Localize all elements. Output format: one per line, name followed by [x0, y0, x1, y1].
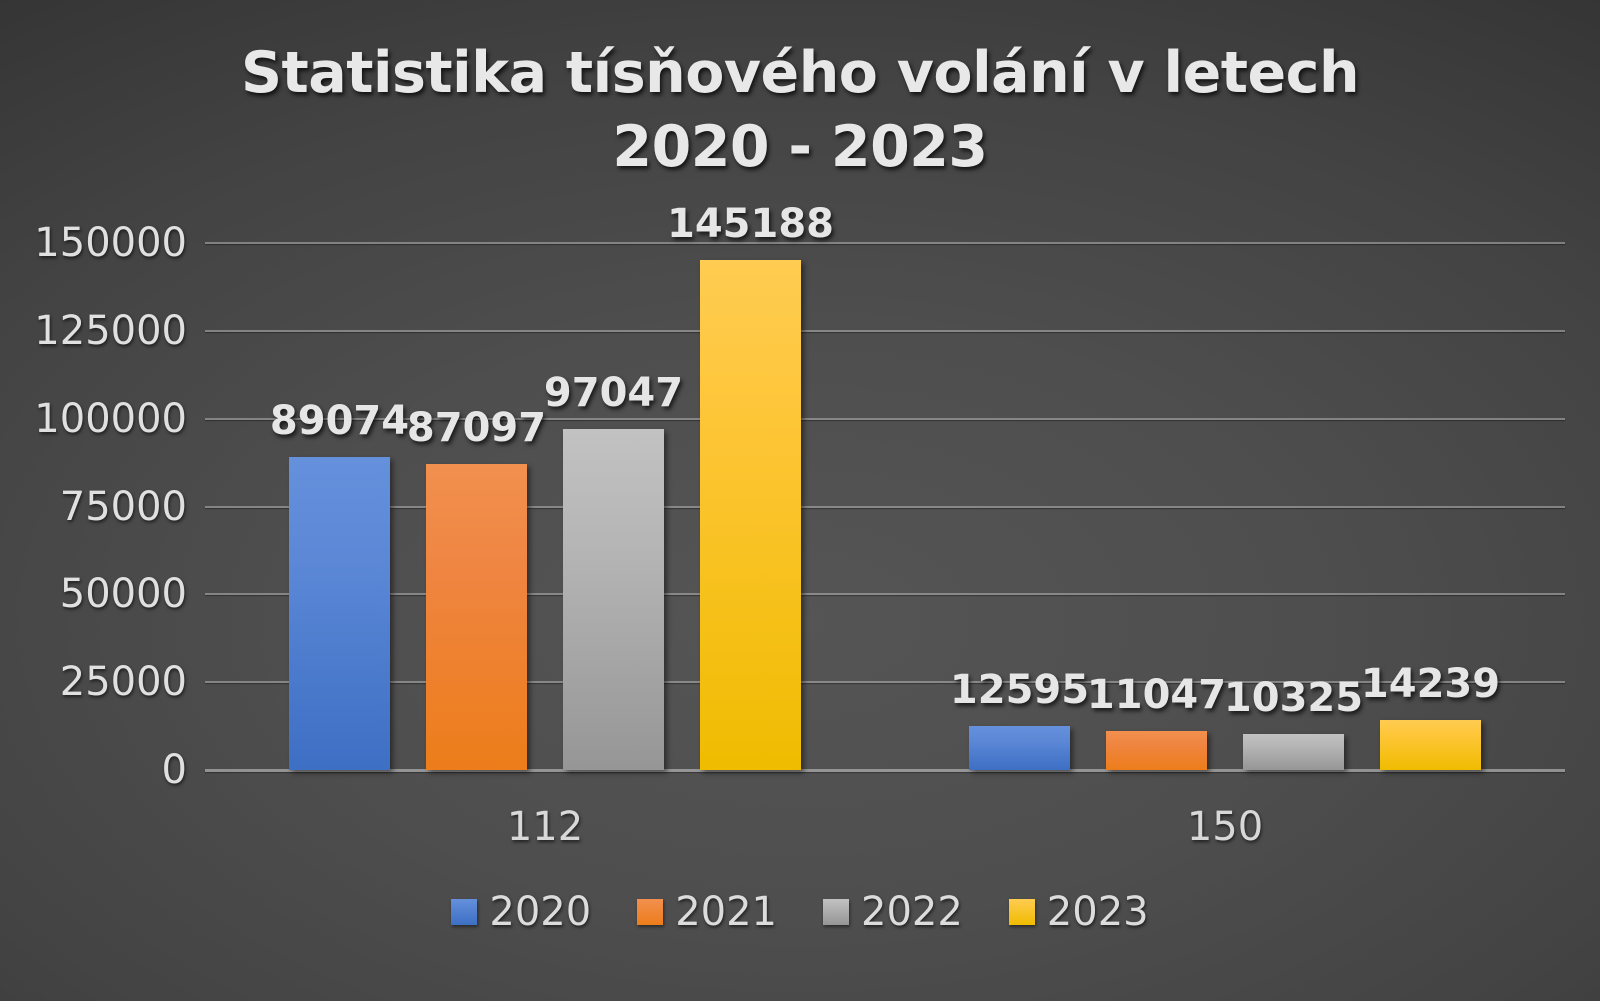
bar-2020-112[interactable]: [289, 457, 390, 770]
bar-2023-112[interactable]: [700, 260, 801, 770]
bar-2021-150[interactable]: [1106, 731, 1207, 770]
x-axis-category-label-112: 112: [205, 807, 885, 847]
bar-2020-150[interactable]: [969, 726, 1070, 770]
bar-chart: Statistika tísňového volání v letech 202…: [0, 0, 1600, 1001]
y-axis-tick-label: 50000: [0, 574, 187, 614]
gridline: [205, 593, 1565, 595]
legend-item-2023[interactable]: 2023: [1009, 892, 1149, 932]
legend-swatch-icon: [823, 899, 849, 925]
legend-item-2021[interactable]: 2021: [637, 892, 777, 932]
bar-value-label: 145188: [660, 204, 841, 244]
legend-label: 2020: [489, 892, 591, 932]
plot-area: 1500001250001000007500050000250000890748…: [205, 243, 1565, 770]
gridline: [205, 506, 1565, 508]
y-axis-tick-label: 75000: [0, 487, 187, 527]
legend-label: 2022: [861, 892, 963, 932]
x-axis-category-label-150: 150: [885, 807, 1565, 847]
bar-value-label: 97047: [523, 373, 704, 413]
y-axis-tick-label: 125000: [0, 311, 187, 351]
y-axis-tick-label: 25000: [0, 662, 187, 702]
chart-legend: 2020202120222023: [0, 892, 1600, 932]
legend-item-2020[interactable]: 2020: [451, 892, 591, 932]
chart-title: Statistika tísňového volání v letech 202…: [0, 36, 1600, 184]
y-axis-tick-label: 100000: [0, 399, 187, 439]
legend-swatch-icon: [637, 899, 663, 925]
y-axis-tick-label: 150000: [0, 223, 187, 263]
legend-label: 2023: [1047, 892, 1149, 932]
gridline: [205, 330, 1565, 332]
legend-swatch-icon: [1009, 899, 1035, 925]
bar-value-label: 87097: [386, 408, 567, 448]
legend-label: 2021: [675, 892, 777, 932]
bar-2022-150[interactable]: [1243, 734, 1344, 770]
y-axis-tick-label: 0: [0, 750, 187, 790]
bar-2021-112[interactable]: [426, 464, 527, 770]
bar-2022-112[interactable]: [563, 429, 664, 770]
bar-value-label: 14239: [1340, 664, 1521, 704]
axis-baseline: [205, 769, 1565, 772]
legend-item-2022[interactable]: 2022: [823, 892, 963, 932]
bar-2023-150[interactable]: [1380, 720, 1481, 770]
gridline: [205, 242, 1565, 244]
legend-swatch-icon: [451, 899, 477, 925]
